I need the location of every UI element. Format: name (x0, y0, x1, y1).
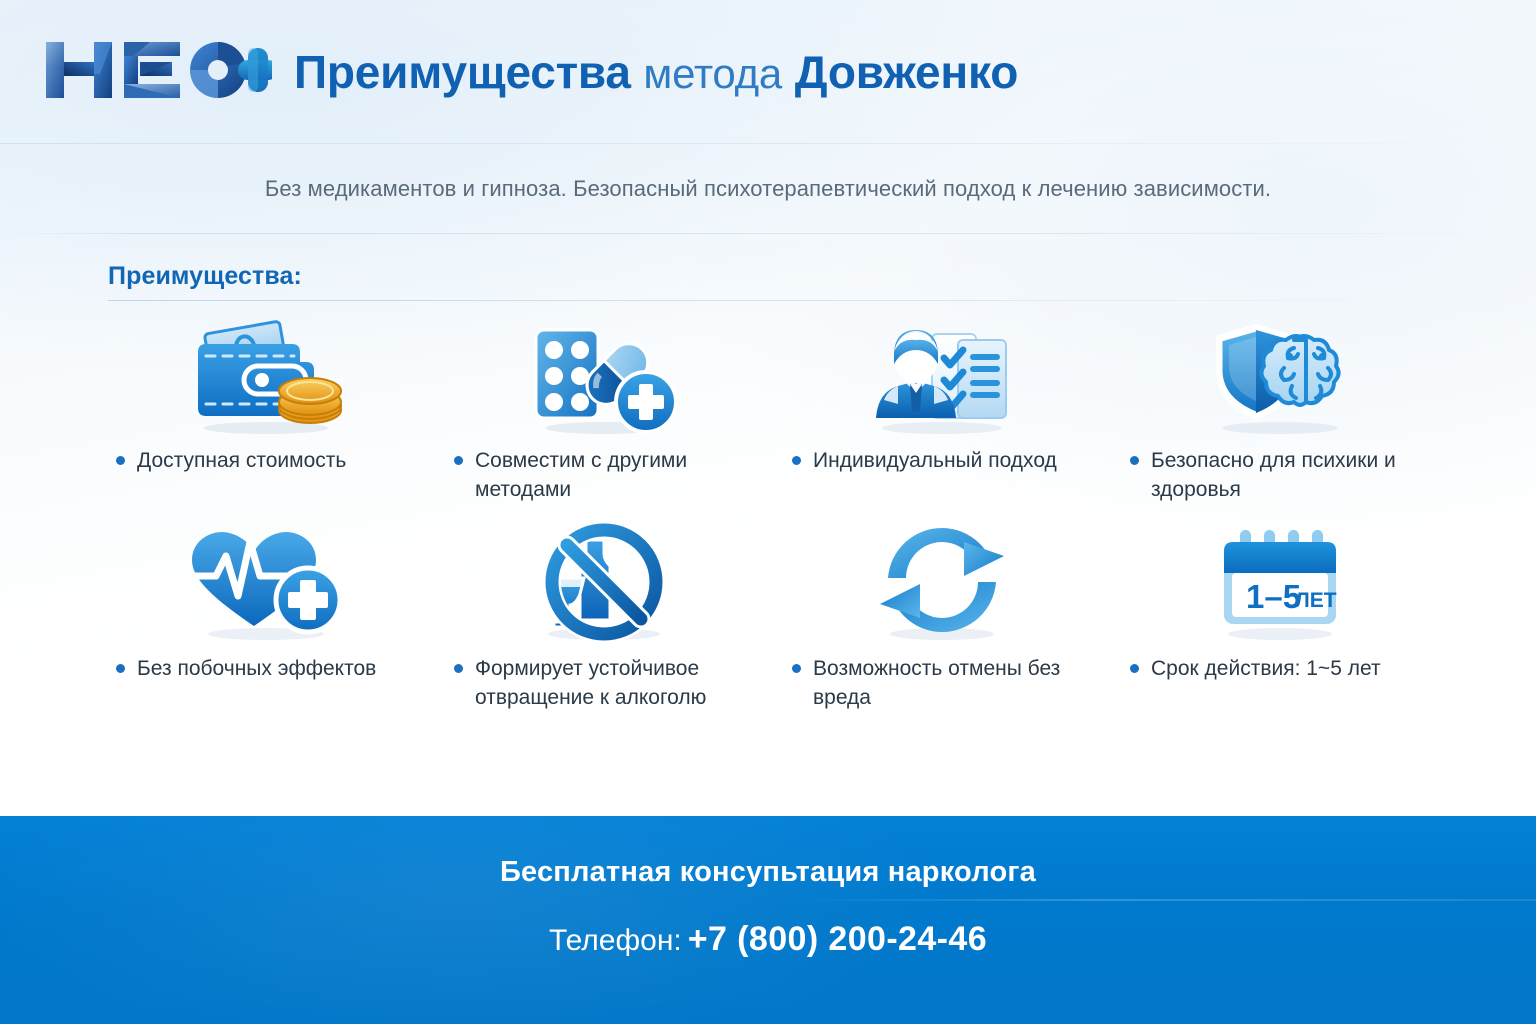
bullet-icon (1130, 456, 1139, 465)
benefit-caption: Безопасно для психики и здоровья (1108, 440, 1446, 504)
benefit-label: Индивидуальный подход (813, 446, 1057, 475)
subtitle: Без медикаментов и гипноза. Безопасный п… (0, 176, 1536, 202)
neo-plus-logo (40, 34, 272, 106)
no-alcohol-icon (432, 518, 770, 646)
benefit-item: 1–5 ЛЕТ Срок действия: 1~5 лет (1108, 518, 1446, 724)
benefit-item: Без побочных эффектов (94, 518, 432, 724)
shield-brain-icon (1108, 312, 1446, 440)
subtitle-divider (0, 233, 1536, 234)
footer-title: Бесплатная консупьтация нарколога (0, 856, 1536, 889)
phone-number[interactable]: +7 (800) 200-24-46 (688, 920, 987, 958)
poster-root: Преимущества метода Довженко Без медикам… (0, 0, 1536, 1024)
benefit-label: Совместим с другими методами (475, 446, 725, 504)
footer-cta: Бесплатная консупьтация нарколога Телефо… (0, 816, 1536, 1024)
benefit-item: Формирует устойчивое отвращение к алкого… (432, 518, 770, 724)
section-divider (108, 300, 1438, 301)
header-divider (0, 143, 1536, 144)
benefits-grid: Доступная стоимость (94, 312, 1446, 724)
heart-pulse-plus-icon (94, 518, 432, 646)
benefit-caption: Доступная стоимость (94, 440, 432, 475)
title-part-bold-1: Преимущества (294, 46, 631, 98)
calendar-number: 1–5 (1246, 578, 1301, 615)
bullet-icon (116, 456, 125, 465)
bullet-icon (454, 456, 463, 465)
benefit-caption: Возможность отмены без вреда (770, 646, 1108, 712)
refresh-cycle-icon (770, 518, 1108, 646)
bullet-icon (792, 664, 801, 673)
benefit-label: Возможность отмены без вреда (813, 654, 1063, 712)
benefit-caption: Без побочных эффектов (94, 646, 432, 683)
benefit-item: Совместим с другими методами (432, 312, 770, 518)
benefit-caption: Индивидуальный подход (770, 440, 1108, 475)
header: Преимущества метода Довженко (0, 0, 1536, 140)
footer-highlight (799, 899, 1536, 901)
bullet-icon (1130, 664, 1139, 673)
benefit-caption: Формирует устойчивое отвращение к алкого… (432, 646, 770, 712)
benefit-label: Формирует устойчивое отвращение к алкого… (475, 654, 725, 712)
benefit-label: Безопасно для психики и здоровья (1151, 446, 1401, 504)
page-title: Преимущества метода Довженко (294, 49, 1018, 95)
pills-medication-icon (432, 312, 770, 440)
title-part-light: метода (643, 50, 782, 97)
benefit-item: Возможность отмены без вреда (770, 518, 1108, 724)
wallet-money-icon (94, 312, 432, 440)
bullet-icon (792, 456, 801, 465)
bullet-icon (116, 664, 125, 673)
calendar-unit: ЛЕТ (1295, 589, 1337, 612)
benefit-label: Без побочных эффектов (137, 654, 376, 683)
benefit-item: Безопасно для психики и здоровья (1108, 312, 1446, 518)
footer-phone[interactable]: Телефон:+7 (800) 200-24-46 (0, 920, 1536, 959)
benefit-item: Индивидуальный подход (770, 312, 1108, 518)
phone-label: Телефон: (549, 924, 682, 957)
doctor-checklist-icon (770, 312, 1108, 440)
benefit-item: Доступная стоимость (94, 312, 432, 518)
benefit-label: Срок действия: 1~5 лет (1151, 654, 1381, 683)
benefit-caption: Совместим с другими методами (432, 440, 770, 504)
benefit-caption: Срок действия: 1~5 лет (1108, 646, 1446, 683)
calendar-years-icon: 1–5 ЛЕТ (1108, 518, 1446, 646)
title-part-bold-2: Довженко (795, 46, 1018, 98)
section-heading: Преимущества: (108, 262, 302, 291)
benefit-label: Доступная стоимость (137, 446, 346, 475)
bullet-icon (454, 664, 463, 673)
